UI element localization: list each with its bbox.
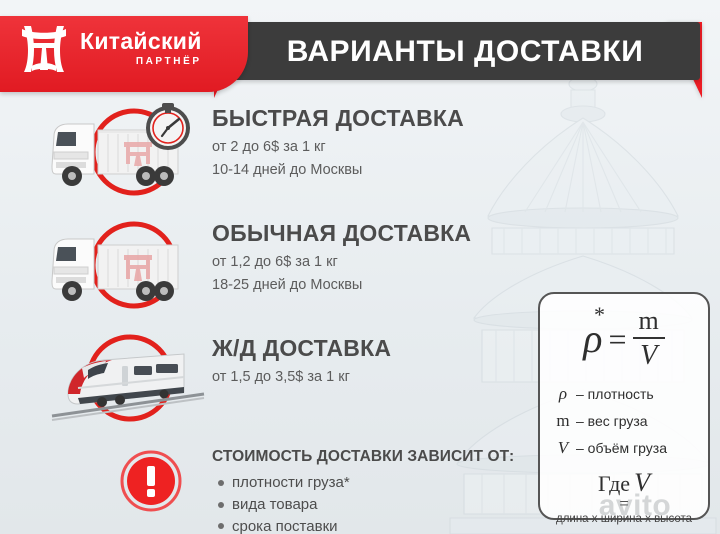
bullet-icon [218,502,224,508]
legend-symbol: V [550,434,576,461]
delivery-option-fast[interactable]: БЫСТРАЯ ДОСТАВКА от 2 до 6$ за 1 кг 10-1… [0,100,540,204]
brand-wordmark: Китайский ПАРТНЁР [80,30,202,67]
delivery-option-text: БЫСТРАЯ ДОСТАВКА от 2 до 6$ за 1 кг 10-1… [212,106,532,181]
formula-numerator: m [633,308,665,334]
formula-where: ГдеV [550,470,698,496]
depends-list: плотности груза* вида товара срока поста… [212,472,532,534]
list-item: срока поставки [212,516,532,534]
truck-icon [38,217,206,313]
list-item-label: плотности груза* [232,472,350,494]
option-duration: 18-25 дней до Москвы [212,274,532,296]
delivery-option-text: ОБЫЧНАЯ ДОСТАВКА от 1,2 до 6$ за 1 кг 18… [212,221,532,296]
density-formula-card: * ρ = m V ρ – плотность m – вес груза V … [538,292,710,520]
option-price: от 2 до 6$ за 1 кг [212,136,532,158]
fraction-bar-icon [633,337,665,339]
poster-header: ВАРИАНТЫ ДОСТАВКИ [0,8,720,92]
truck-stopwatch-icon [38,102,206,198]
list-item-label: вида товара [232,494,317,516]
option-duration: 10-14 дней до Москвы [212,159,532,181]
legend-row: V – объём груза [550,434,698,461]
brand-subtitle: ПАРТНЁР [80,57,202,67]
where-label: Где [598,471,630,496]
option-price: от 1,5 до 3,5$ за 1 кг [212,366,532,388]
legend-row: ρ – плотность [550,380,698,407]
where-symbol: V [634,468,650,497]
formula-legend: ρ – плотность m – вес груза V – объём гр… [550,380,698,462]
legend-label: – объём груза [576,437,667,459]
depends-title: СТОИМОСТЬ ДОСТАВКИ ЗАВИСИТ ОТ: [212,448,532,466]
legend-label: – вес груза [576,410,648,432]
where-equals: = [550,498,698,510]
footnote-asterisk: * [594,304,605,326]
legend-symbol: ρ [550,380,576,407]
option-price: от 1,2 до 6$ за 1 кг [212,251,532,273]
list-item-label: срока поставки [232,516,338,534]
legend-symbol: m [550,407,576,434]
cost-depends-block: СТОИМОСТЬ ДОСТАВКИ ЗАВИСИТ ОТ: плотности… [212,448,532,534]
formula-expression: * ρ = m V [550,302,698,376]
delivery-option-text: Ж/Д ДОСТАВКА от 1,5 до 3,5$ за 1 кг [212,336,532,389]
formula-fraction: m V [633,308,665,370]
formula-equals: = [608,323,626,355]
bullet-icon [218,523,224,529]
exclamation-icon [120,450,182,512]
option-title: БЫСТРАЯ ДОСТАВКА [212,106,532,131]
option-title: ОБЫЧНАЯ ДОСТАВКА [212,221,532,246]
brand-logo[interactable]: Китайский ПАРТНЁР [18,22,202,74]
volume-dimensions: длина х ширина х высота [550,513,698,525]
list-item: вида товара [212,494,532,516]
legend-row: m – вес груза [550,407,698,434]
formula-denominator: V [634,342,663,370]
torii-gate-icon [18,22,70,74]
delivery-option-rail[interactable]: Ж/Д ДОСТАВКА от 1,5 до 3,5$ за 1 кг [0,330,540,434]
page-title: ВАРИАНТЫ ДОСТАВКИ [250,30,680,74]
list-item: плотности груза* [212,472,532,494]
train-icon [38,332,206,428]
brand-name: Китайский [80,30,202,53]
delivery-options-poster: ВАРИАНТЫ ДОСТАВКИ [0,0,720,534]
delivery-option-regular[interactable]: ОБЫЧНАЯ ДОСТАВКА от 1,2 до 6$ за 1 кг 18… [0,215,540,319]
legend-label: – плотность [576,383,654,405]
bullet-icon [218,480,224,486]
option-title: Ж/Д ДОСТАВКА [212,336,532,361]
